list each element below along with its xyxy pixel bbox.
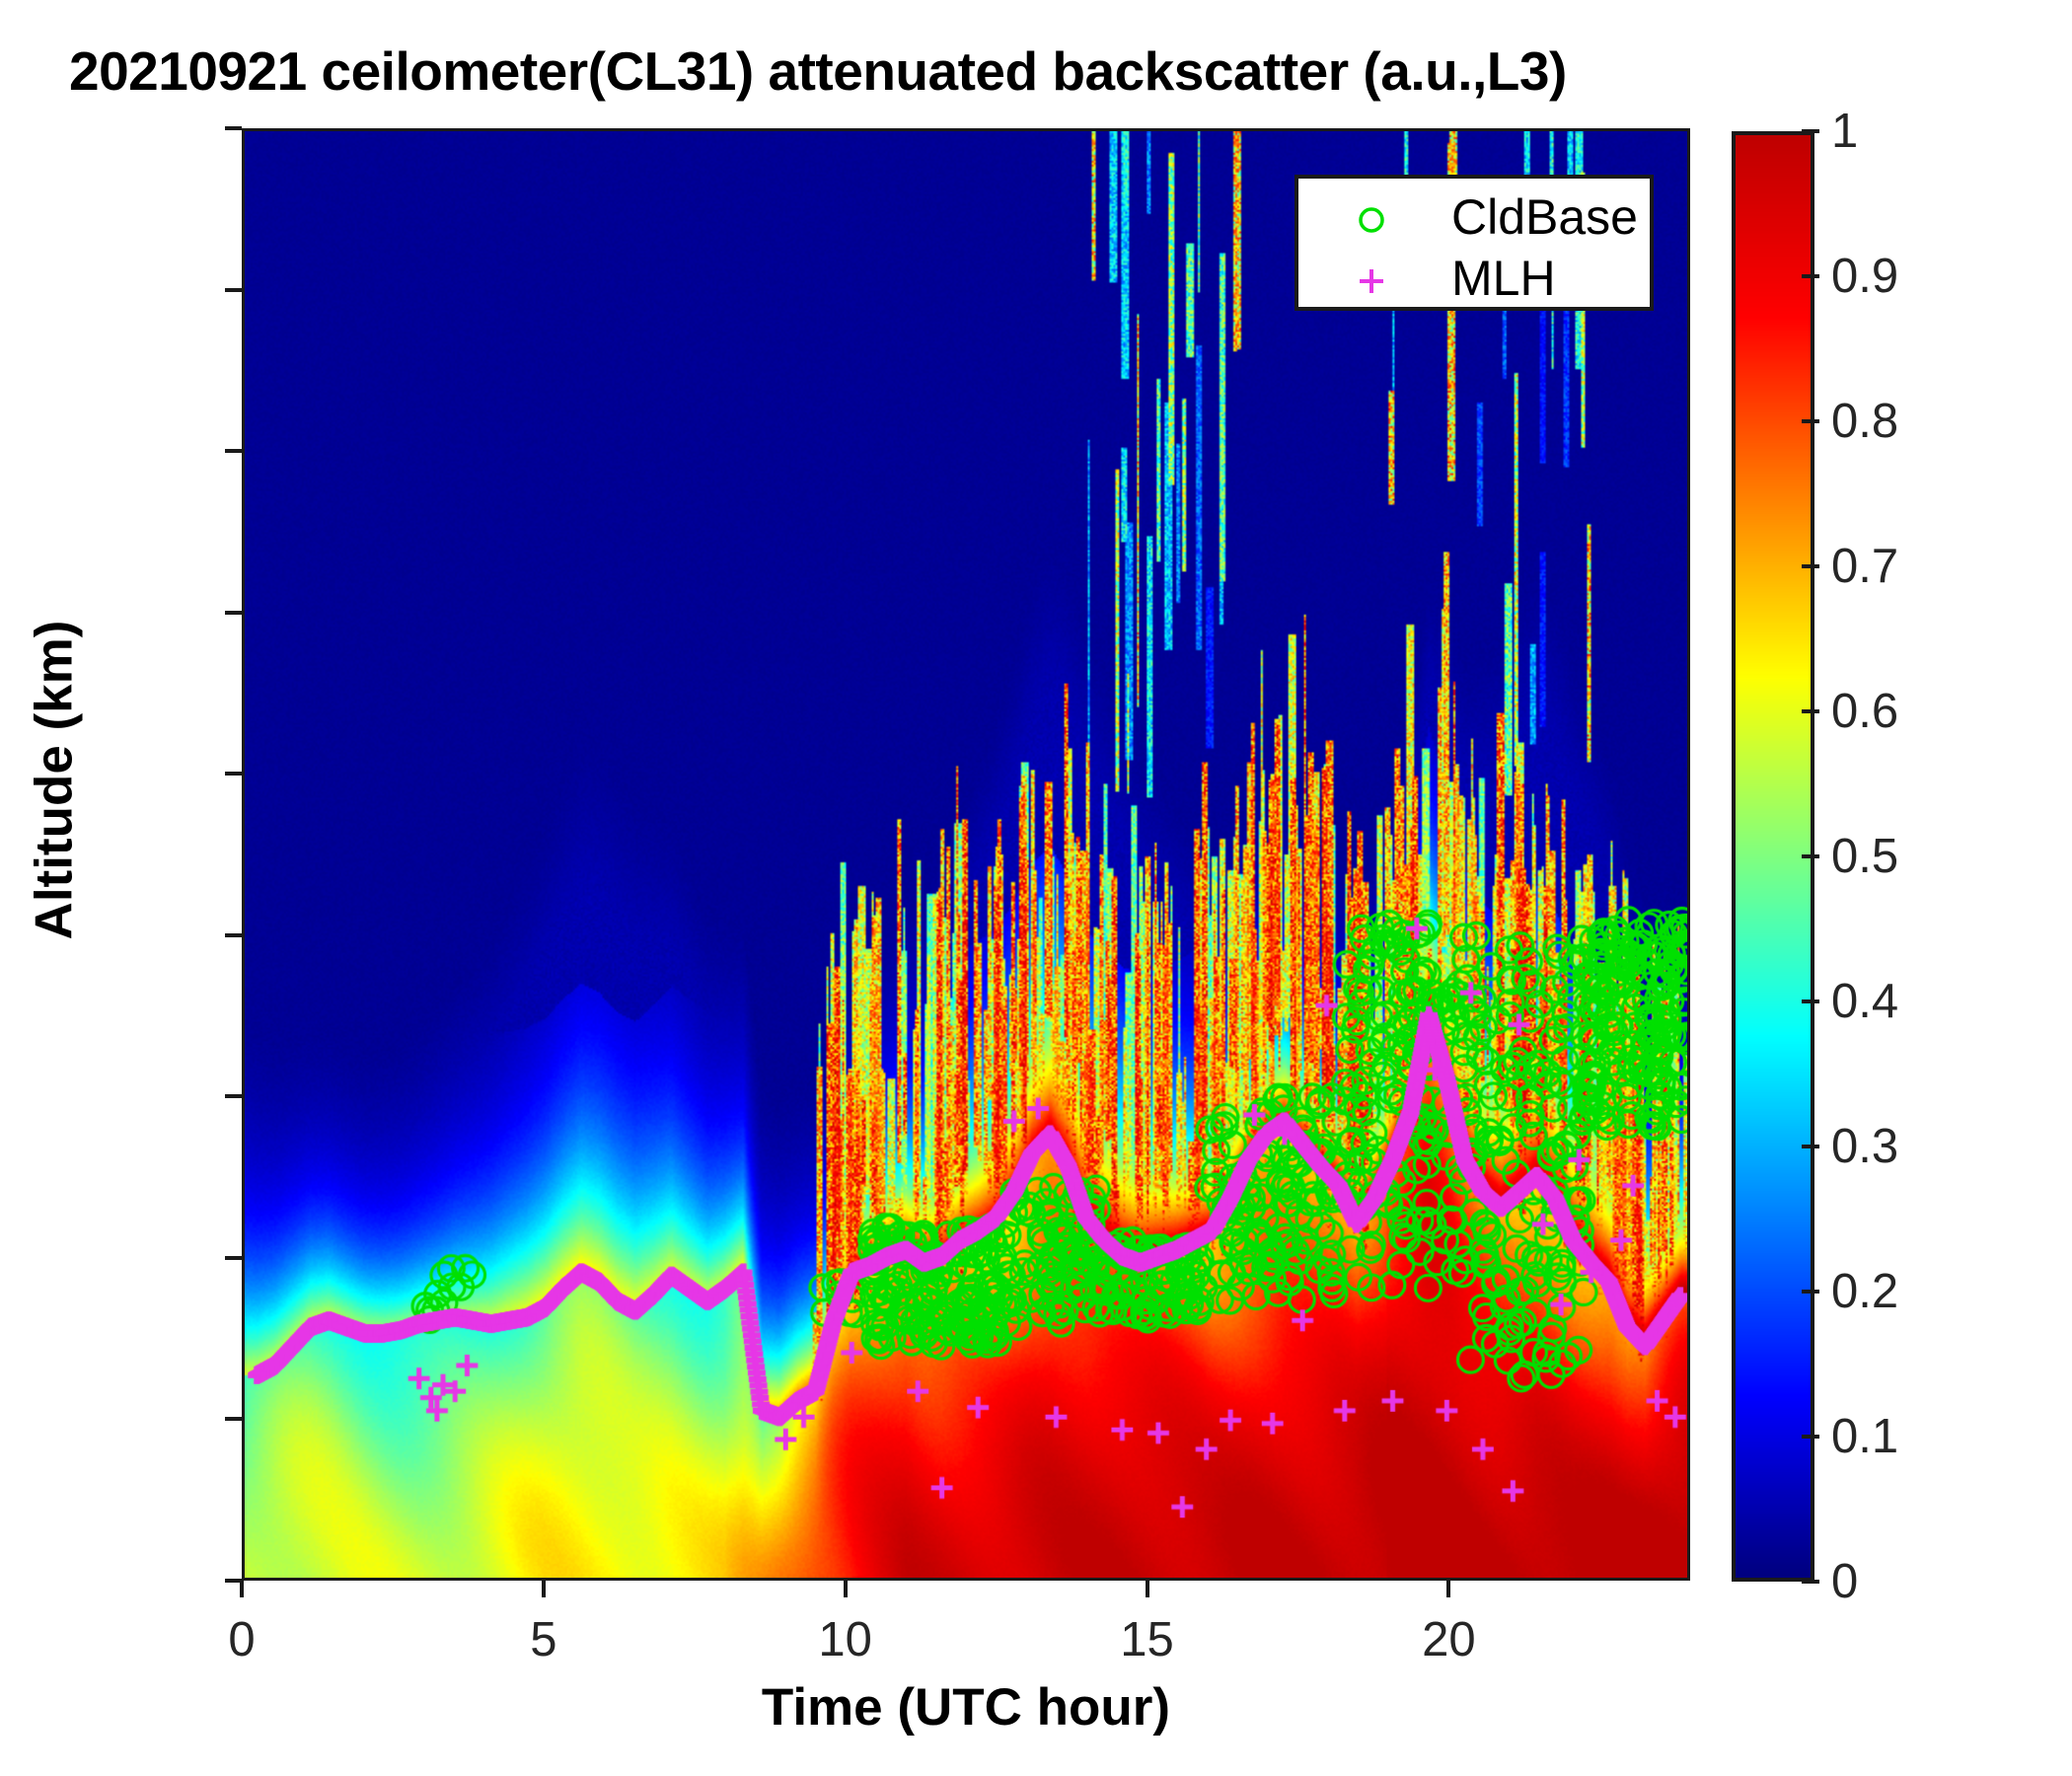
x-tick-label: 15 (1120, 1612, 1174, 1667)
colorbar-tick-mark (1802, 999, 1819, 1003)
colorbar-tick-label: 0.6 (1831, 684, 1898, 739)
circle-marker-icon (1350, 194, 1409, 244)
colorbar-tick-mark (1802, 129, 1819, 133)
x-tick-mark (1446, 1581, 1450, 1597)
colorbar-tick-mark (1802, 274, 1819, 278)
colorbar-tick-label: 0.3 (1831, 1119, 1898, 1174)
x-tick-mark (1146, 1581, 1149, 1597)
colorbar-tick-label: 0.9 (1831, 249, 1898, 304)
colorbar-tick-mark (1802, 854, 1819, 858)
colorbar-tick-mark (1802, 419, 1819, 423)
colorbar-tick-mark (1802, 1580, 1819, 1584)
colorbar-tick-mark (1802, 1435, 1819, 1439)
colorbar-tick-label: 0.4 (1831, 974, 1898, 1029)
x-tick-label: 10 (818, 1612, 872, 1667)
colorbar-tick-mark (1802, 1290, 1819, 1294)
colorbar-tick-mark (1802, 564, 1819, 568)
colorbar-tick-label: 0 (1831, 1554, 1858, 1609)
y-tick-mark (225, 1417, 242, 1421)
y-tick-mark (225, 933, 242, 937)
x-axis-label: Time (UTC hour) (242, 1677, 1690, 1738)
y-tick-mark (225, 288, 242, 292)
legend-entry-cldbase[interactable]: CldBase (1298, 194, 1650, 244)
legend-entry-mlh[interactable]: MLH (1298, 256, 1650, 305)
y-tick-mark (225, 772, 242, 776)
y-tick-mark (225, 449, 242, 453)
y-tick-mark (225, 1094, 242, 1098)
x-tick-label: 0 (228, 1612, 255, 1667)
x-tick-mark (844, 1581, 848, 1597)
x-tick-label: 20 (1422, 1612, 1476, 1667)
plus-marker-icon (1350, 256, 1409, 305)
colorbar-tick-label: 1 (1831, 104, 1858, 159)
x-tick-mark (542, 1581, 546, 1597)
colorbar-gradient (1736, 135, 1811, 1578)
figure-canvas: 20210921 ceilometer(CL31) attenuated bac… (0, 0, 2072, 1776)
y-tick-mark (225, 126, 242, 130)
y-tick-mark (225, 611, 242, 615)
plot-area[interactable] (242, 128, 1690, 1581)
colorbar-tick-label: 0.1 (1831, 1409, 1898, 1464)
colorbar-tick-mark (1802, 709, 1819, 713)
marker-overlay (245, 131, 1687, 1578)
colorbar-tick-mark (1802, 1145, 1819, 1148)
legend-box[interactable]: CldBase MLH (1295, 175, 1654, 311)
chart-title: 20210921 ceilometer(CL31) attenuated bac… (69, 39, 1944, 103)
y-axis-label: Altitude (km) (25, 465, 85, 1096)
x-tick-mark (240, 1581, 244, 1597)
colorbar-tick-label: 0.8 (1831, 394, 1898, 449)
legend-label-cldbase: CldBase (1451, 188, 1638, 246)
x-tick-label: 5 (530, 1612, 556, 1667)
colorbar-tick-label: 0.2 (1831, 1264, 1898, 1319)
colorbar-tick-label: 0.7 (1831, 539, 1898, 594)
colorbar-tick-label: 0.5 (1831, 829, 1898, 884)
y-tick-mark (225, 1256, 242, 1260)
legend-label-mlh: MLH (1451, 250, 1556, 307)
